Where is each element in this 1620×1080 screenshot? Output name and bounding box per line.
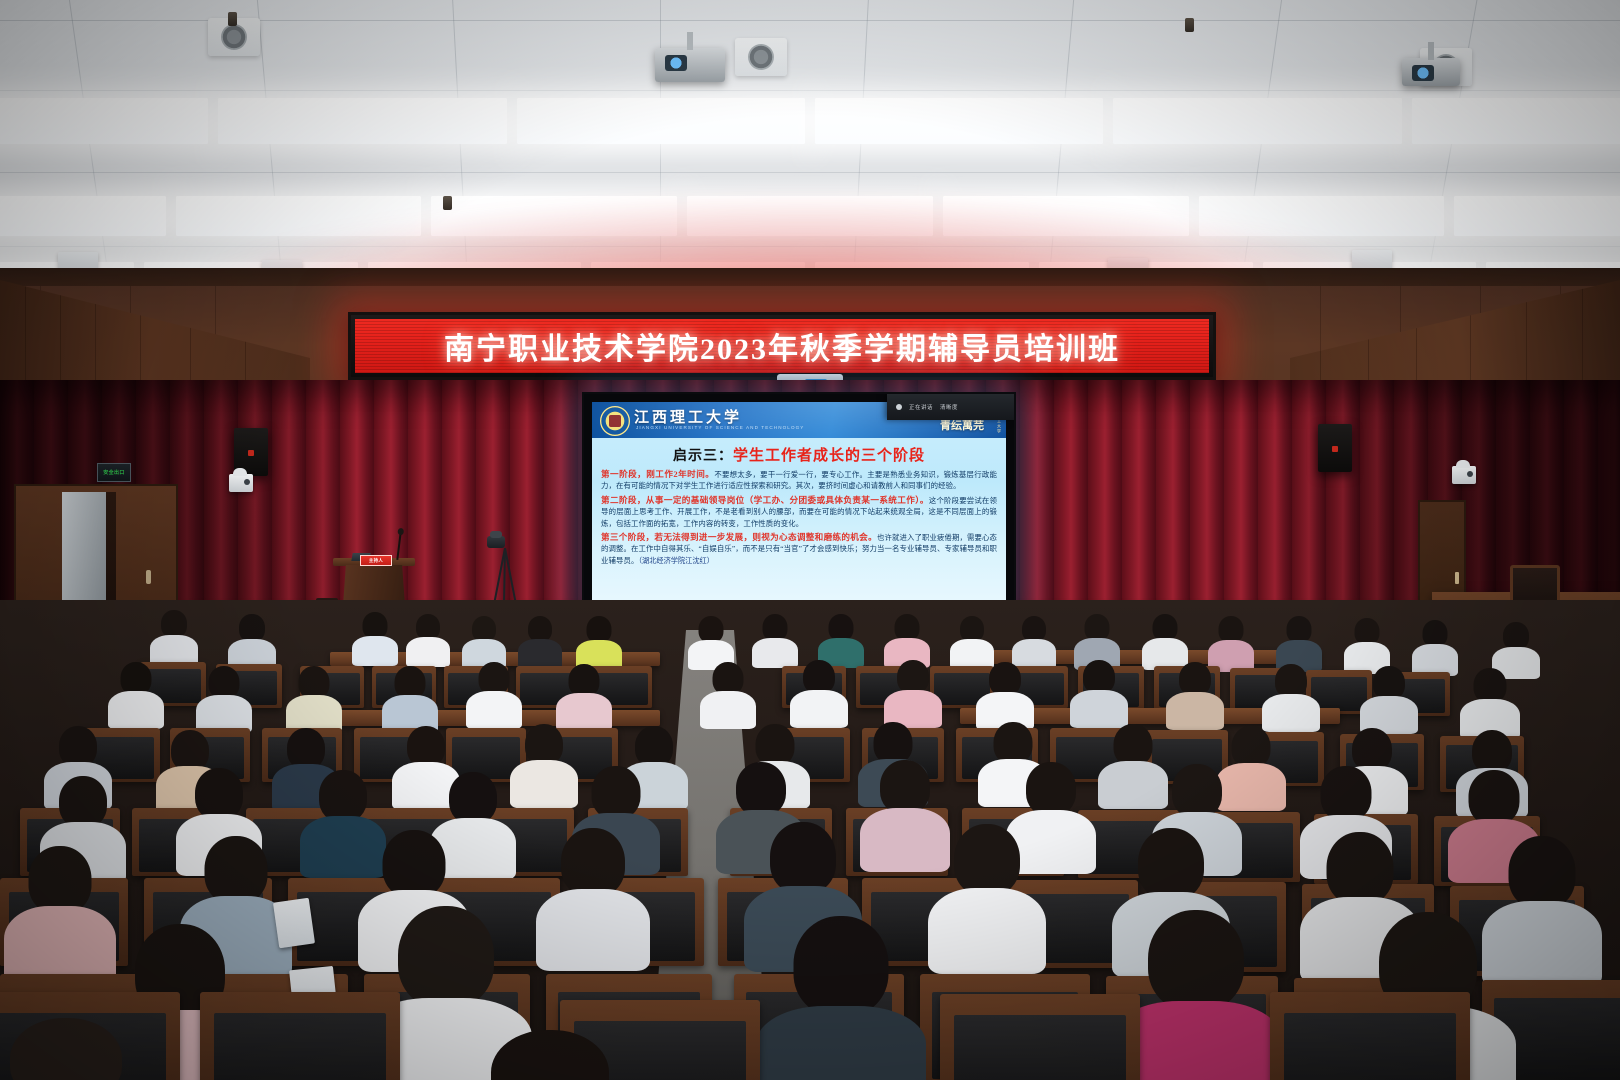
- microphone-icon: [896, 404, 902, 410]
- attendee: [752, 614, 798, 666]
- presentation-slide: 江西理工大学 JIANGXI UNIVERSITY OF SCIENCE AND…: [592, 402, 1006, 612]
- audience-area: [0, 600, 1620, 1080]
- attendee: [950, 616, 994, 668]
- projection-screen: 江西理工大学 JIANGXI UNIVERSITY OF SCIENCE AND…: [582, 392, 1016, 618]
- attendee: [556, 664, 612, 728]
- slide-body: 第一阶段，刚工作2年时间。不要想太多，要干一行爱一行，要专心工作。主要是熟悉业务…: [592, 468, 1006, 566]
- attendee: [1276, 616, 1322, 670]
- paragraph-lead: 第二阶段，从事一定的基础领导岗位（学工办、分团委或具体负责某一系统工作）。: [601, 495, 929, 505]
- podium-sign: 主持人: [360, 555, 392, 566]
- motto-line-2: 青纭萬芫: [940, 419, 984, 433]
- attendee: [518, 616, 562, 668]
- wall-camera-icon: [229, 474, 253, 492]
- sprinkler-icon: [1185, 18, 1194, 32]
- ceiling-projector: [1402, 58, 1460, 86]
- led-banner-screen: 南宁职业技术学院2023年秋季学期辅导员培训班: [355, 319, 1209, 373]
- attendee: [884, 660, 942, 726]
- ceiling-projector: [655, 48, 725, 82]
- led-banner: 南宁职业技术学院2023年秋季学期辅导员培训班: [348, 312, 1216, 380]
- attendee: [1142, 614, 1188, 668]
- exit-sign-label: 安全出口: [103, 469, 125, 476]
- ceiling-vent-icon: [735, 38, 787, 76]
- attendee: [510, 724, 578, 804]
- ceiling-light-row-1: [0, 98, 1620, 144]
- seat: [1270, 992, 1470, 1080]
- ceiling-light-panel: [0, 98, 208, 144]
- paragraph-lead: 第三个阶段，若无法得到进一步发展，则视为心态调整和磨练的机会。: [601, 532, 877, 542]
- door-handle[interactable]: [146, 570, 151, 584]
- attendee: [1012, 616, 1056, 668]
- attendee: [818, 614, 864, 666]
- attendee: [1262, 664, 1320, 730]
- attendee: [352, 612, 398, 664]
- ceiling-light-panel: [1412, 98, 1620, 144]
- slide-paragraph: 第二阶段，从事一定的基础领导岗位（学工办、分团委或具体负责某一系统工作）。这个阶…: [601, 494, 997, 528]
- slide-title: 启示三：学生工作者成长的三个阶段: [592, 444, 1006, 465]
- attendee: [286, 666, 342, 730]
- attendee: [790, 660, 848, 726]
- ceiling-light-panel: [815, 98, 1103, 144]
- attendee: [1460, 668, 1520, 736]
- attendee: [928, 824, 1046, 968]
- podium-sign-label: 主持人: [369, 558, 383, 564]
- attendee: [480, 1030, 620, 1080]
- livestream-overlay-bar[interactable]: 正在讲话 清晰度: [887, 394, 1014, 420]
- university-name: 江西理工大学: [634, 406, 742, 427]
- video-camera-icon: [487, 536, 505, 548]
- attendee: [688, 616, 734, 668]
- attendee: [462, 616, 506, 668]
- attendee: [1344, 618, 1390, 672]
- attendee: [756, 916, 926, 1080]
- attendee: [228, 614, 276, 670]
- attendee: [1070, 660, 1128, 726]
- university-seal-icon: [600, 406, 630, 436]
- slide-paragraph: 第一阶段，刚工作2年时间。不要想太多，要干一行爱一行，要专心工作。主要是熟悉业务…: [601, 468, 997, 491]
- ceiling-light-panel: [218, 98, 506, 144]
- attendee: [108, 662, 164, 726]
- attendee: [382, 666, 438, 730]
- attendee: [1412, 620, 1458, 674]
- slide-title-prefix: 启示三：: [673, 449, 733, 464]
- ceiling-light-panel: [517, 98, 805, 144]
- attendee: [700, 662, 756, 726]
- attendee: [884, 614, 930, 666]
- stream-quality-label[interactable]: 清晰度: [940, 403, 958, 411]
- paragraph-source: （湖北经济学院江沈红）: [638, 557, 713, 565]
- attendee: [196, 666, 252, 730]
- slide-paragraph: 第三个阶段，若无法得到进一步发展，则视为心态调整和磨练的机会。也许就进入了职业疲…: [601, 531, 997, 566]
- sprinkler-icon: [228, 12, 237, 26]
- led-banner-text: 南宁职业技术学院2023年秋季学期辅导员培训班: [444, 324, 1120, 368]
- ceiling-light-panel: [1454, 196, 1620, 236]
- attendee: [406, 614, 450, 666]
- attendee: [150, 610, 198, 666]
- ceiling-light-panel: [1113, 98, 1401, 144]
- auditorium-scene: 南宁职业技术学院2023年秋季学期辅导员培训班 安全出口 江西理工大学 JIAN…: [0, 0, 1620, 1080]
- attendee: [976, 662, 1034, 728]
- university-name-en: JIANGXI UNIVERSITY OF SCIENCE AND TECHNO…: [636, 425, 804, 430]
- exit-sign: 安全出口: [97, 463, 131, 482]
- seat: [940, 994, 1140, 1080]
- attendee: [0, 1018, 132, 1080]
- seat: [200, 992, 400, 1080]
- attendee: [536, 828, 650, 966]
- wall-speaker-icon: [1318, 424, 1352, 472]
- ceiling-light-panel: [0, 196, 166, 236]
- paragraph-lead: 第一阶段，刚工作2年时间。: [601, 469, 714, 479]
- ceiling: [0, 0, 1620, 300]
- attendee: [466, 662, 522, 726]
- tablet-device[interactable]: [273, 898, 315, 949]
- slide-title-main: 学生工作者成长的三个阶段: [733, 448, 925, 464]
- attendee: [576, 616, 622, 668]
- wall-camera-icon: [1452, 466, 1476, 484]
- attendee: [1360, 666, 1418, 732]
- stream-status-label: 正在讲话: [909, 403, 933, 411]
- attendee: [1166, 662, 1224, 728]
